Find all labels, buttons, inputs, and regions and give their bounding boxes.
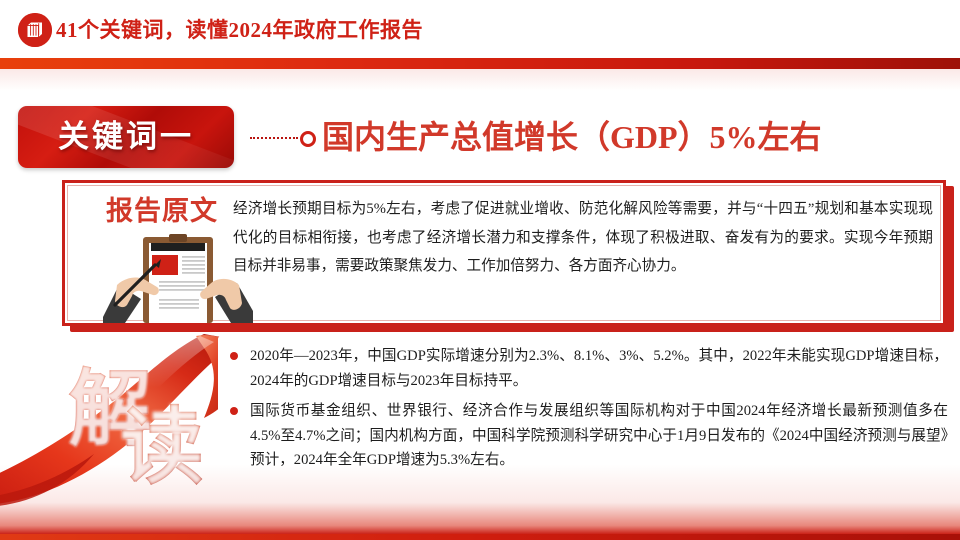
original-text-card: 报告原文 xyxy=(62,180,946,326)
bullet-text: 国际货币基金组织、世界银行、经济合作与发展组织等国际机构对于中国2024年经济增… xyxy=(250,403,948,468)
keyword-title: 国内生产总值增长（GDP）5%左右 xyxy=(322,106,822,168)
interpretation-card: 2020年—2023年，中国GDP实际增速分别为2.3%、8.1%、3%、5.2… xyxy=(218,336,948,482)
keyword-row: 关键词一 国内生产总值增长（GDP）5%左右 xyxy=(0,106,960,170)
bullet-dot-icon xyxy=(230,352,238,360)
header-divider-bar xyxy=(0,58,960,69)
connector-ring-icon xyxy=(300,131,316,147)
bottom-gradient xyxy=(0,464,960,534)
hands-clipboard-pen-icon xyxy=(103,229,253,323)
bullet-text: 2020年—2023年，中国GDP实际增速分别为2.3%、8.1%、3%、5.2… xyxy=(250,348,948,389)
slide-page: 41个关键词，读懂2024年政府工作报告 关键词一 国内生产总值增长（GDP）5… xyxy=(0,0,960,540)
connector-dots xyxy=(250,137,298,139)
list-item: 国际货币基金组织、世界银行、经济合作与发展组织等国际机构对于中国2024年经济增… xyxy=(218,399,948,473)
original-body-text: 经济增长预期目标为5%左右，考虑了促进就业增收、防范化解风险等需要，并与“十四五… xyxy=(233,195,933,319)
header-divider-fade xyxy=(0,69,960,91)
bullet-dot-icon xyxy=(230,407,238,415)
books-icon xyxy=(18,13,52,47)
page-title: 41个关键词，读懂2024年政府工作报告 xyxy=(56,13,423,47)
bottom-bar xyxy=(0,534,960,540)
page-header: 41个关键词，读懂2024年政府工作报告 xyxy=(0,0,960,58)
dotted-line-circle-icon xyxy=(250,130,316,146)
interpretation-bullet-list: 2020年—2023年，中国GDP实际增速分别为2.3%、8.1%、3%、5.2… xyxy=(218,344,948,479)
original-label: 报告原文 xyxy=(87,193,237,229)
list-item: 2020年—2023年，中国GDP实际增速分别为2.3%、8.1%、3%、5.2… xyxy=(218,344,948,393)
keyword-badge[interactable]: 关键词一 xyxy=(18,106,234,168)
keyword-badge-label: 关键词一 xyxy=(18,106,234,168)
